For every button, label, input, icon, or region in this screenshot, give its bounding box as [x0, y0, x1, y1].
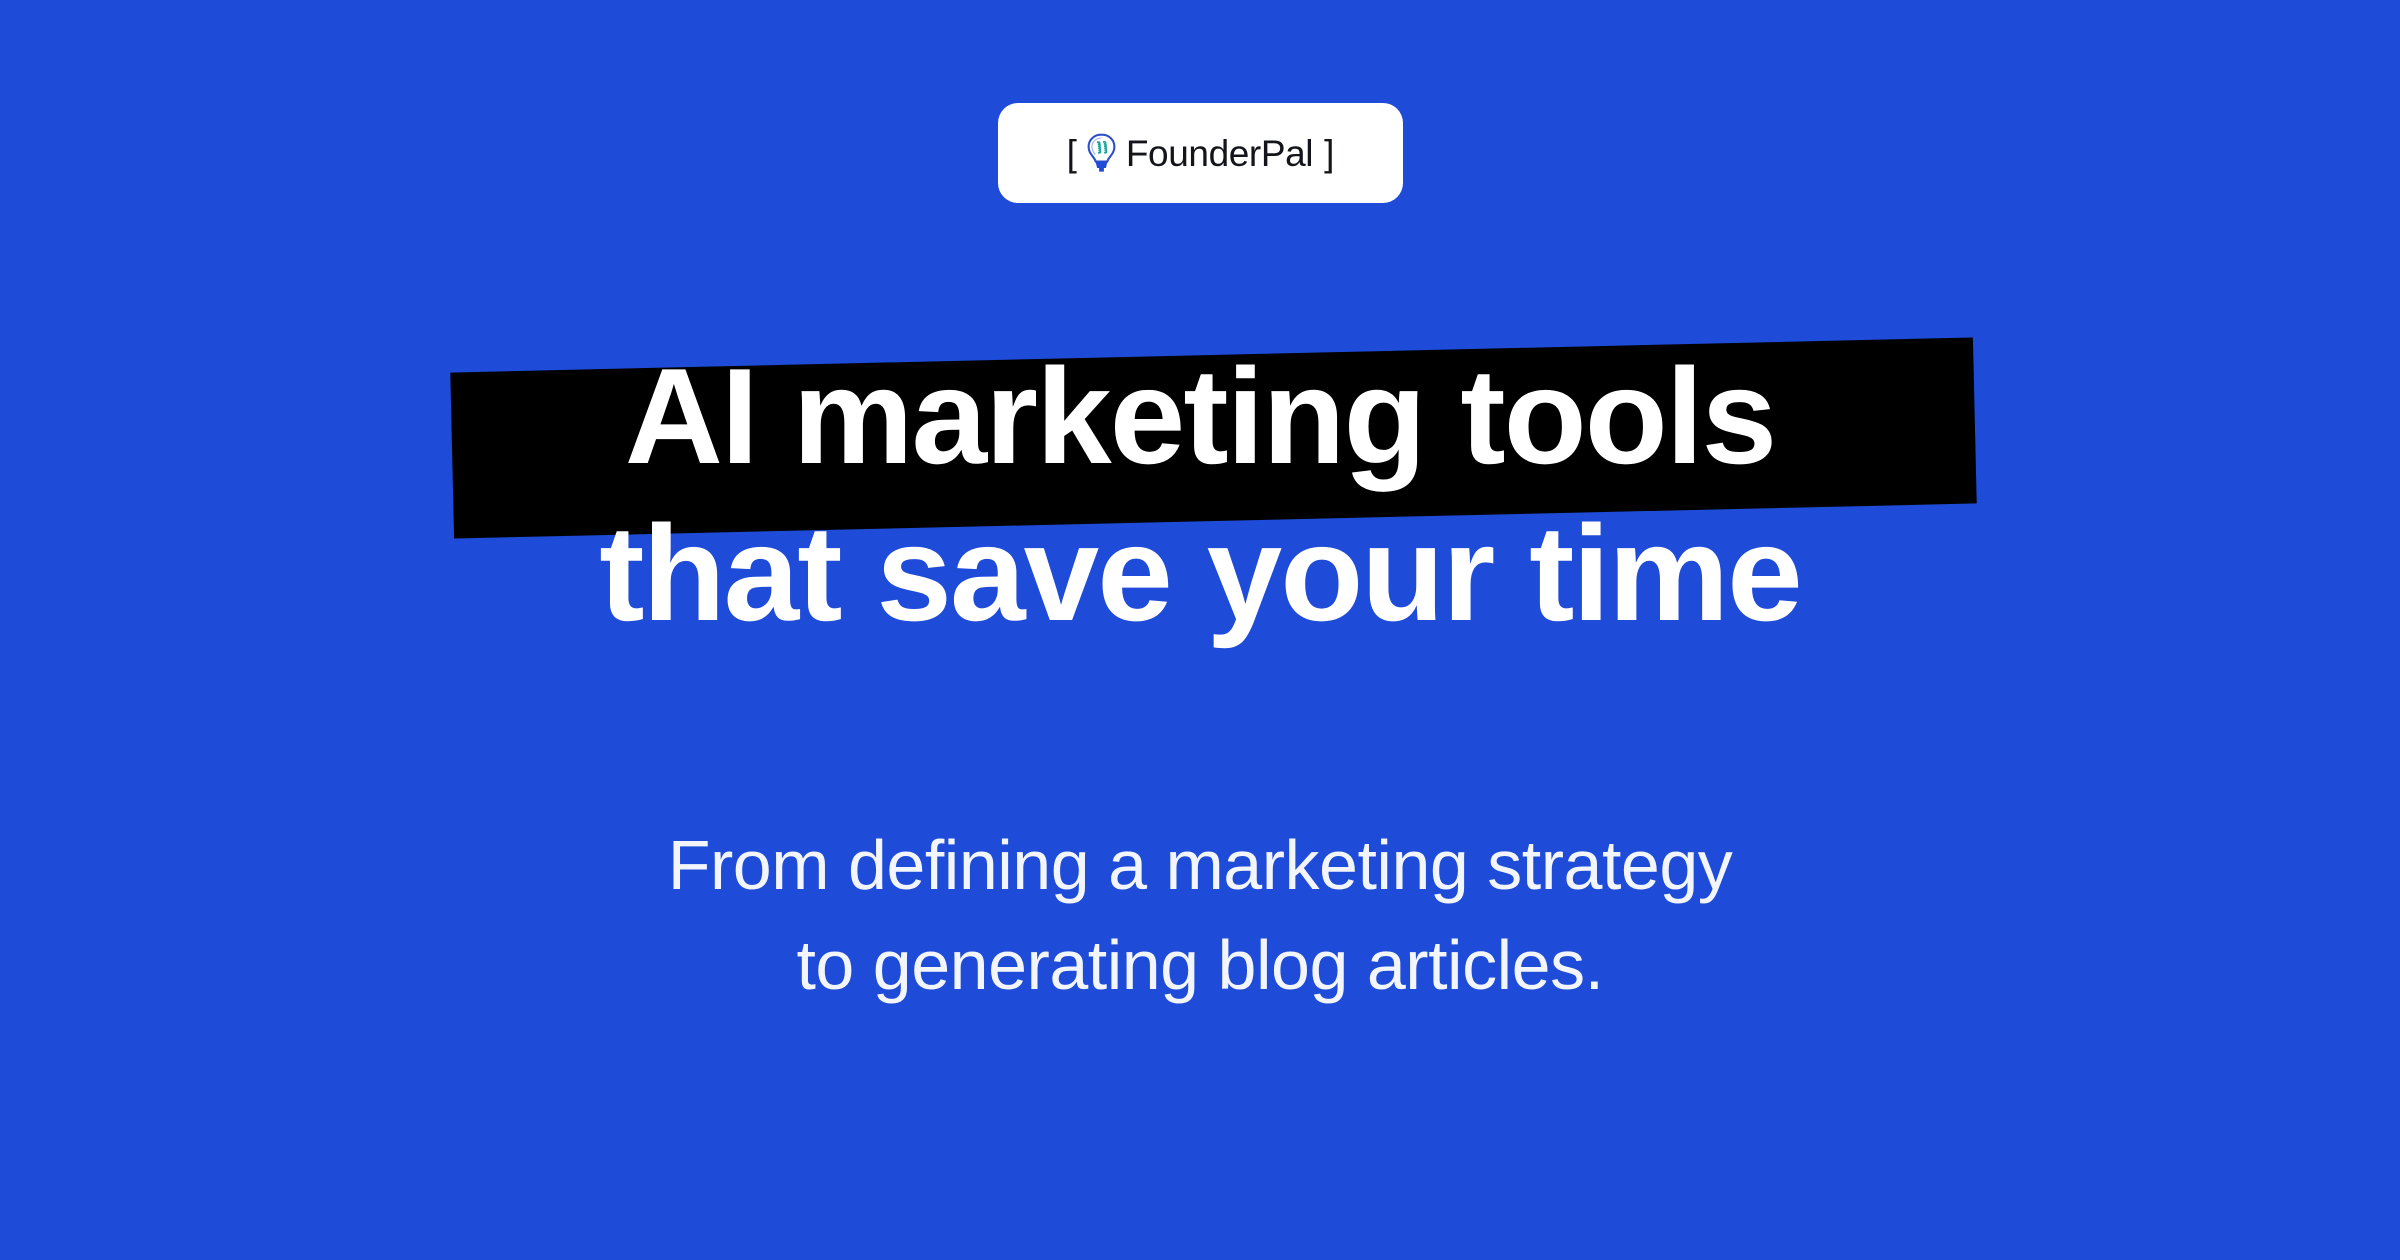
- headline-line2: that save your time: [0, 498, 2400, 648]
- headline: AI marketing tools that save your time: [0, 330, 2400, 648]
- logo-content: [ FounderPal ]: [1067, 133, 1335, 173]
- slide-canvas: [ FounderPal ] AI mar: [0, 0, 2400, 1260]
- headline-line1: AI marketing tools: [0, 330, 2400, 502]
- founderpal-logo-badge[interactable]: [ FounderPal ]: [998, 103, 1403, 203]
- subtitle-line2: to generating blog articles.: [0, 915, 2400, 1015]
- bracket-right: ]: [1324, 135, 1334, 172]
- subtitle: From defining a marketing strategy to ge…: [0, 815, 2400, 1015]
- subtitle-line1: From defining a marketing strategy: [0, 815, 2400, 915]
- bracket-left: [: [1067, 135, 1077, 172]
- lightbulb-icon: [1086, 133, 1117, 173]
- headline-line1-wrapper: AI marketing tools: [0, 330, 2400, 502]
- brand-name: FounderPal: [1126, 135, 1313, 172]
